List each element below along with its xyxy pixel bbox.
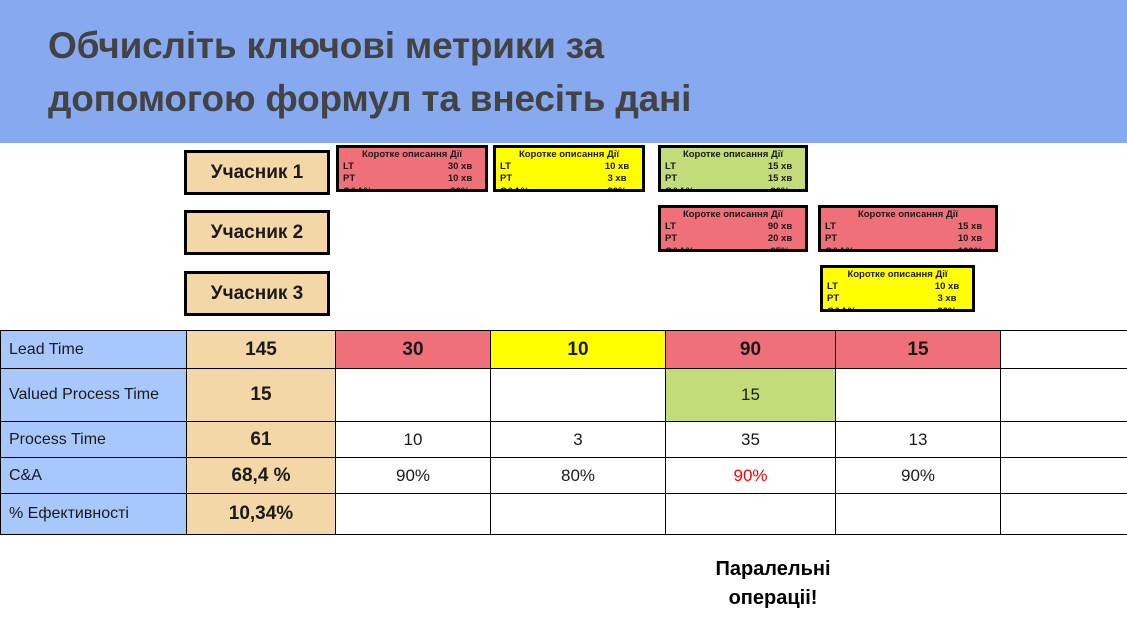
pt-value: 20 хв (759, 233, 801, 245)
lt-label: LT (827, 281, 838, 293)
participant-box-1[interactable]: Учасник 1 (184, 150, 330, 195)
process-card-3[interactable]: Коротке описання Дії LT 15 хв PT 15 хв C… (658, 145, 808, 192)
process-card-pt-row: PT 10 хв (343, 173, 481, 185)
lt-label: LT (343, 161, 354, 173)
process-card-lt-row: LT 15 хв (825, 221, 991, 233)
cell-vpt-total[interactable]: 15 (187, 369, 336, 422)
ca-label: C&A% (665, 186, 694, 192)
process-card-lt-row: LT 30 хв (343, 161, 481, 173)
process-card-lt-row: LT 15 хв (665, 161, 801, 173)
cell-vpt-2[interactable] (491, 369, 666, 422)
pt-label: PT (343, 173, 355, 185)
pt-value: 15 хв (759, 173, 801, 185)
cell-ca-total[interactable]: 68,4 % (187, 458, 336, 494)
participant-box-3[interactable]: Учасник 3 (184, 271, 330, 316)
cell-efficiency-2[interactable] (491, 494, 666, 535)
process-card-title: Коротке описання Дії (665, 149, 801, 161)
ca-value: 100% (949, 246, 991, 252)
row-label-lead-time: Lead Time (1, 331, 187, 369)
process-card-title: Коротке описання Дії (500, 149, 638, 161)
participant-label: Учасник 3 (211, 283, 304, 305)
process-card-2[interactable]: Коротке описання Дії LT 10 хв PT 3 хв C&… (493, 145, 645, 192)
pt-label: PT (665, 233, 677, 245)
process-card-4[interactable]: Коротке описання Дії LT 90 хв PT 20 хв C… (658, 205, 808, 252)
process-card-lt-row: LT 90 хв (665, 221, 801, 233)
process-card-6[interactable]: Коротке описання Дії LT 10 хв PT 3 хв C&… (820, 265, 975, 312)
row-label-valued-process-time: Valued Process Time (1, 369, 187, 422)
lt-value: 15 хв (949, 221, 991, 233)
pt-value: 3 хв (926, 293, 968, 305)
footer-note: Паралельні операціі! (623, 555, 923, 613)
cell-process-time-5[interactable] (1001, 422, 1127, 458)
ca-label: C&A% (500, 186, 529, 192)
table-row: Valued Process Time 15 15 (1, 369, 1127, 422)
cell-lead-time-1[interactable]: 30 (336, 331, 491, 369)
table-row: % Ефективності 10,34% (1, 494, 1127, 535)
process-card-lt-row: LT 10 хв (827, 281, 968, 293)
process-card-title: Коротке описання Дії (825, 209, 991, 221)
pt-value: 3 хв (596, 173, 638, 185)
cell-ca-2[interactable]: 80% (491, 458, 666, 494)
ca-value: 90% (926, 306, 968, 312)
process-card-ca-row: C&A% 100% (825, 246, 991, 252)
lt-label: LT (665, 161, 676, 173)
process-card-ca-row: C&A% 90% (665, 186, 801, 192)
lt-label: LT (825, 221, 836, 233)
process-card-5[interactable]: Коротке описання Дії LT 15 хв PT 10 хв C… (818, 205, 998, 252)
cell-ca-4[interactable]: 90% (836, 458, 1001, 494)
cell-process-time-total[interactable]: 61 (187, 422, 336, 458)
row-label-ca: C&A (1, 458, 187, 494)
process-card-lt-row: LT 10 хв (500, 161, 638, 173)
lt-value: 30 хв (439, 161, 481, 173)
lt-value: 90 хв (759, 221, 801, 233)
cell-lead-time-2[interactable]: 10 (491, 331, 666, 369)
cell-process-time-1[interactable]: 10 (336, 422, 491, 458)
ca-label: C&A% (665, 246, 694, 252)
cell-efficiency-1[interactable] (336, 494, 491, 535)
lt-value: 15 хв (759, 161, 801, 173)
table-row: Process Time 61 10 3 35 13 (1, 422, 1127, 458)
cell-ca-5[interactable] (1001, 458, 1127, 494)
cell-ca-1[interactable]: 90% (336, 458, 491, 494)
lt-label: LT (665, 221, 676, 233)
ca-value: 80% (596, 186, 638, 192)
participant-label: Учасник 1 (211, 162, 304, 184)
lt-value: 10 хв (596, 161, 638, 173)
pt-value: 10 хв (949, 233, 991, 245)
cell-lead-time-4[interactable]: 15 (836, 331, 1001, 369)
row-label-efficiency: % Ефективності (1, 494, 187, 535)
lt-label: LT (500, 161, 511, 173)
ca-label: C&A% (343, 186, 372, 192)
cell-process-time-4[interactable]: 13 (836, 422, 1001, 458)
ca-label: C&A% (825, 246, 854, 252)
title-banner: Обчисліть ключові метрики за допомогою ф… (0, 0, 1127, 143)
metrics-table: Lead Time 145 30 10 90 15 Valued Process… (0, 330, 1127, 535)
process-card-pt-row: PT 3 хв (500, 173, 638, 185)
pt-label: PT (500, 173, 512, 185)
cell-process-time-2[interactable]: 3 (491, 422, 666, 458)
ca-label: C&A% (827, 306, 856, 312)
process-card-ca-row: C&A% 90% (827, 306, 968, 312)
process-card-ca-row: C&A% 95% (665, 246, 801, 252)
pt-label: PT (665, 173, 677, 185)
participant-label: Учасник 2 (211, 222, 304, 244)
process-card-pt-row: PT 15 хв (665, 173, 801, 185)
ca-value: 95% (759, 246, 801, 252)
cell-efficiency-3[interactable] (666, 494, 836, 535)
process-card-pt-row: PT 3 хв (827, 293, 968, 305)
ca-value: 90% (759, 186, 801, 192)
process-card-pt-row: PT 10 хв (825, 233, 991, 245)
process-card-ca-row: C&A% 90% (343, 186, 481, 192)
cell-efficiency-total[interactable]: 10,34% (187, 494, 336, 535)
cell-vpt-4[interactable] (836, 369, 1001, 422)
table-row: C&A 68,4 % 90% 80% 90% 90% (1, 458, 1127, 494)
participant-box-2[interactable]: Учасник 2 (184, 210, 330, 255)
cell-lead-time-total[interactable]: 145 (187, 331, 336, 369)
cell-lead-time-5[interactable] (1001, 331, 1127, 369)
lt-value: 10 хв (926, 281, 968, 293)
pt-label: PT (827, 293, 839, 305)
process-card-title: Коротке описання Дії (827, 269, 968, 281)
cell-vpt-1[interactable] (336, 369, 491, 422)
pt-label: PT (825, 233, 837, 245)
cell-ca-3[interactable]: 90% (666, 458, 836, 494)
pt-value: 10 хв (439, 173, 481, 185)
ca-value: 90% (439, 186, 481, 192)
cell-process-time-3[interactable]: 35 (666, 422, 836, 458)
cell-efficiency-4[interactable] (836, 494, 1001, 535)
cell-efficiency-5[interactable] (1001, 494, 1127, 535)
process-card-ca-row: C&A% 80% (500, 186, 638, 192)
cell-vpt-3[interactable]: 15 (666, 369, 836, 422)
cell-lead-time-3[interactable]: 90 (666, 331, 836, 369)
table-row: Lead Time 145 30 10 90 15 (1, 331, 1127, 369)
process-card-1[interactable]: Коротке описання Дії LT 30 хв PT 10 хв C… (336, 145, 488, 192)
process-card-pt-row: PT 20 хв (665, 233, 801, 245)
row-label-process-time: Process Time (1, 422, 187, 458)
process-card-title: Коротке описання Дії (343, 149, 481, 161)
cell-vpt-5[interactable] (1001, 369, 1127, 422)
page-title: Обчисліть ключові метрики за допомогою ф… (48, 20, 948, 125)
process-card-title: Коротке описання Дії (665, 209, 801, 221)
